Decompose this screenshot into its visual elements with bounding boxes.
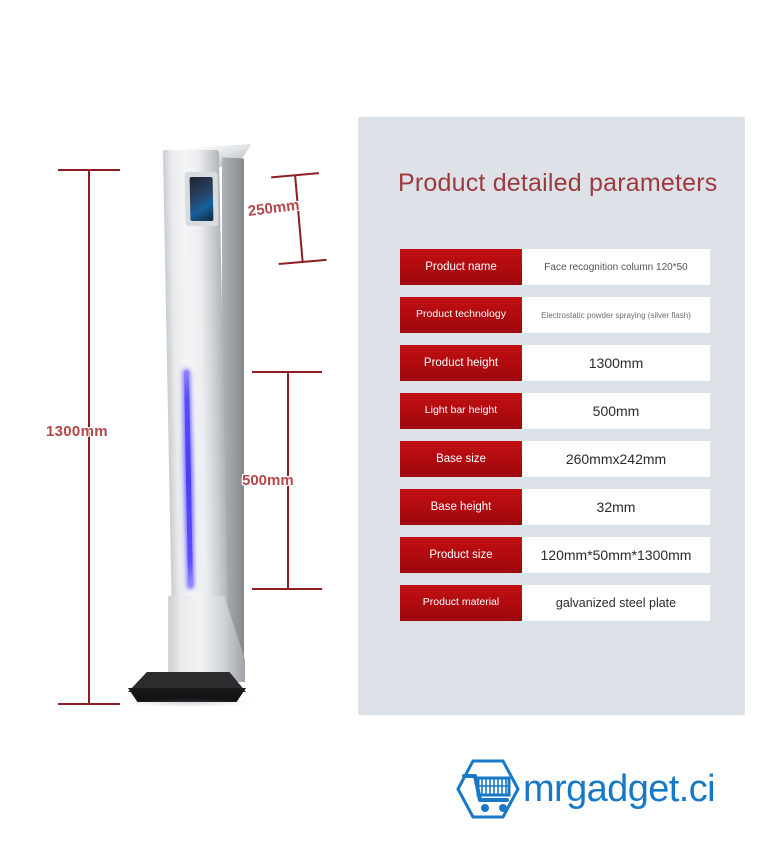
specification-panel: Product detailed parameters Product name…: [358, 117, 745, 715]
base-shadow: [122, 698, 254, 707]
panel-title: Product detailed parameters: [398, 169, 717, 198]
spec-value: Electrostatic powder spraying (silver fl…: [522, 297, 710, 333]
spec-row: Base height32mm: [400, 489, 710, 525]
spec-row: Product height1300mm: [400, 345, 710, 381]
spec-value: 1300mm: [522, 345, 710, 381]
brand-watermark: mrgadget.ci: [455, 758, 715, 820]
specification-table: Product nameFace recognition column 120*…: [400, 249, 710, 633]
dimension-tick-total-top: [58, 169, 120, 171]
spec-value: 500mm: [522, 393, 710, 429]
spec-row: Base size260mmx242mm: [400, 441, 710, 477]
spec-value: 120mm*50mm*1300mm: [522, 537, 710, 573]
spec-row: Product nameFace recognition column 120*…: [400, 249, 710, 285]
spec-row: Product materialgalvanized steel plate: [400, 585, 710, 621]
spec-label: Product name: [400, 249, 522, 285]
spec-label: Product height: [400, 345, 522, 381]
dimension-bracket-head-height: [266, 168, 334, 273]
spec-label: Product material: [400, 585, 522, 621]
product-spec-image: 1300mm 250mm 500mm Product detailed para…: [0, 0, 780, 850]
dimension-tick-bar-top: [252, 371, 322, 373]
spec-label: Product technology: [400, 297, 522, 333]
spec-row: Product technologyElectrostatic powder s…: [400, 297, 710, 333]
dimension-label-light-bar-height: 500mm: [242, 472, 294, 489]
shopping-cart-hexagon-icon: [455, 758, 521, 820]
spec-row: Product size120mm*50mm*1300mm: [400, 537, 710, 573]
brand-name: mrgadget.ci: [523, 770, 715, 808]
spec-value: 32mm: [522, 489, 710, 525]
product-photo: 1300mm 250mm 500mm: [0, 0, 350, 740]
spec-label: Base size: [400, 441, 522, 477]
spec-label: Light bar height: [400, 393, 522, 429]
dimension-tick-total-bottom: [58, 703, 120, 705]
spec-label: Base height: [400, 489, 522, 525]
spec-row: Light bar height500mm: [400, 393, 710, 429]
dimension-tick-bar-bottom: [252, 588, 322, 590]
spec-label: Product size: [400, 537, 522, 573]
spec-value: Face recognition column 120*50: [522, 249, 710, 285]
dimension-label-total-height: 1300mm: [46, 423, 108, 440]
face-recognition-screen-icon: [190, 177, 214, 221]
dimension-line-head-height: [294, 175, 304, 263]
spec-value: 260mmx242mm: [522, 441, 710, 477]
spec-value: galvanized steel plate: [522, 585, 710, 621]
